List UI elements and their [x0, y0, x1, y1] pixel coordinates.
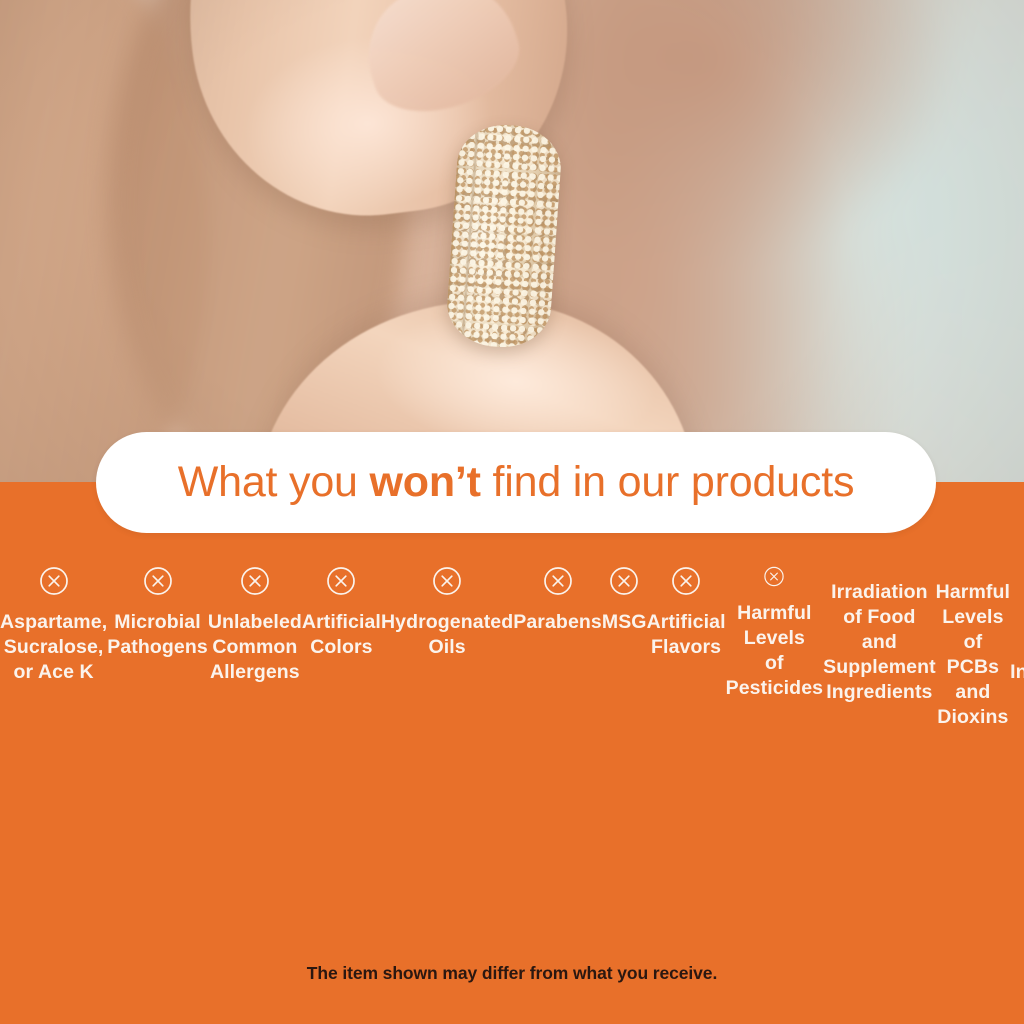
exclusion-item: UnlabeledCommon Allergens: [208, 556, 302, 686]
exclusion-label: MicrobialPathogens: [107, 610, 208, 660]
disclaimer-note: The item shown may differ from what you …: [0, 963, 1024, 984]
exclusion-label: Harmful Levels ofPCBs and Dioxins: [936, 580, 1010, 730]
exclusions-row: HydrogenatedOils Parabens MSG: [381, 556, 726, 701]
circle-x-icon: [432, 566, 462, 596]
page-title: What you won’t find in our products: [178, 461, 855, 504]
exclusion-item: MicrobialPathogens: [107, 556, 208, 686]
exclusion-item: Aspartame,Sucralose, or Ace K: [0, 556, 107, 686]
exclusion-label: ArtificialFlavors: [647, 610, 726, 660]
exclusion-item: ArtificialFlavors: [647, 556, 726, 686]
hand-holding-tablet-photo: [0, 0, 1024, 483]
circle-x-icon: [759, 566, 789, 587]
exclusions-grid: Aspartame,Sucralose, or Ace K MicrobialP…: [0, 556, 1024, 701]
exclusion-label: Irradiation of Foodand SupplementIngredi…: [823, 580, 936, 705]
title-pill: What you won’t find in our products: [96, 432, 936, 533]
page-title-part-1: What you: [178, 458, 370, 506]
exclusion-item: Irradiation of Foodand SupplementIngredi…: [823, 556, 936, 701]
circle-x-icon: [609, 566, 639, 596]
exclusion-label: MSG: [602, 610, 647, 635]
circle-x-icon: [143, 566, 173, 596]
exclusion-label: Parabens: [513, 610, 602, 635]
exclusions-row: Harmful Levelsof Pesticides Irradiation …: [726, 556, 1024, 701]
exclusion-label: UnlabeledCommon Allergens: [208, 610, 302, 685]
exclusion-label: HydrogenatedOils: [381, 610, 513, 660]
exclusion-item: Parabens: [513, 556, 602, 686]
circle-x-icon: [39, 566, 69, 596]
circle-x-icon: [671, 566, 701, 596]
page-title-emphasis: won’t: [370, 458, 481, 506]
exclusion-label: Nano-ParticleIngredients: [1010, 610, 1024, 685]
exclusion-label: Harmful Levelsof Pesticides: [726, 601, 823, 701]
exclusion-label: Aspartame,Sucralose, or Ace K: [0, 610, 107, 685]
page-title-part-2: find in our products: [481, 458, 854, 506]
exclusion-item: ArtificialColors: [302, 556, 381, 686]
photo-vignette: [0, 0, 1024, 483]
promo-graphic: What you won’t find in our products Aspa…: [0, 0, 1024, 1024]
exclusions-row: Aspartame,Sucralose, or Ace K MicrobialP…: [0, 556, 381, 701]
circle-x-icon: [240, 566, 270, 596]
circle-x-icon: [543, 566, 573, 596]
exclusion-label: ArtificialColors: [302, 610, 381, 660]
exclusion-item: Nano-ParticleIngredients: [1010, 556, 1024, 701]
exclusion-item: MSG: [602, 556, 647, 686]
exclusion-item: Harmful Levels ofPCBs and Dioxins: [936, 556, 1010, 701]
circle-x-icon: [326, 566, 356, 596]
exclusion-item: HydrogenatedOils: [381, 556, 513, 686]
exclusion-item: Harmful Levelsof Pesticides: [726, 556, 823, 701]
